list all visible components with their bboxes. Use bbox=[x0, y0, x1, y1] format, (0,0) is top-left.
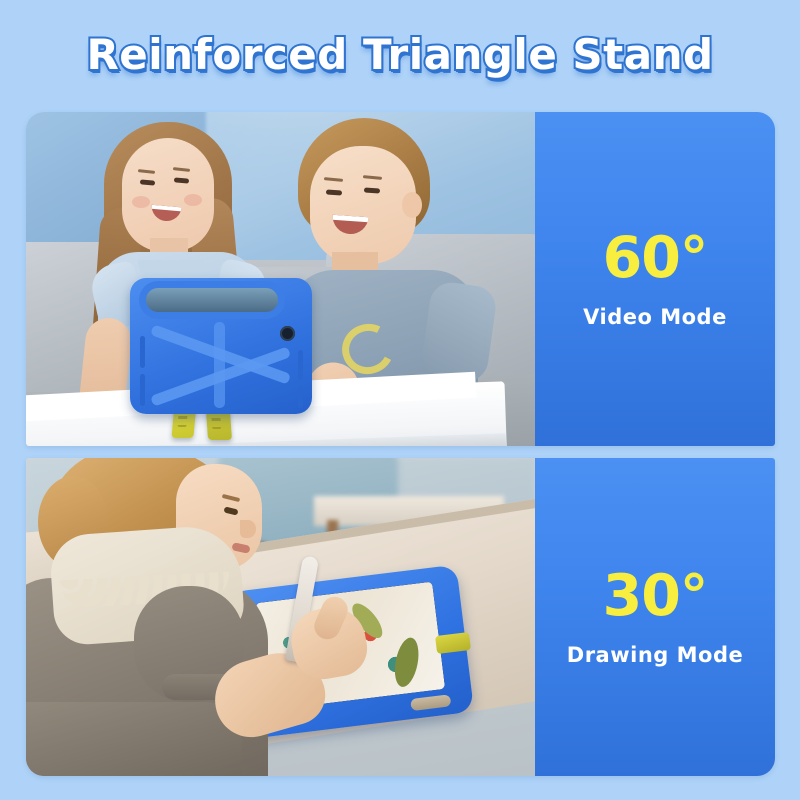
page-title: Reinforced Triangle Stand bbox=[86, 30, 713, 79]
angle-value-drawing: 30° bbox=[603, 568, 708, 625]
info-panel-drawing-mode: 30° Drawing Mode bbox=[535, 458, 775, 776]
boy-eye-left bbox=[326, 189, 342, 195]
case-carry-handle bbox=[146, 288, 278, 312]
photo-drawing-mode bbox=[26, 458, 535, 776]
feature-card-drawing-mode: 30° Drawing Mode bbox=[26, 458, 775, 776]
girl2-skirt bbox=[26, 702, 242, 776]
camera-cutout bbox=[280, 326, 295, 341]
tablet-case-upright bbox=[130, 278, 312, 414]
info-panel-video-mode: 60° Video Mode bbox=[535, 112, 775, 446]
girl-cheek-left bbox=[132, 196, 150, 208]
angle-value-video: 60° bbox=[603, 230, 708, 287]
product-feature-page: Reinforced Triangle Stand bbox=[0, 0, 800, 800]
boy-eye-right bbox=[364, 187, 380, 193]
case-grip-dots-right-2 bbox=[298, 386, 303, 408]
case-grip-dots-left-1 bbox=[140, 336, 145, 368]
girl-cheek-right bbox=[184, 194, 202, 206]
boy-face bbox=[310, 146, 416, 264]
photo-video-mode bbox=[26, 112, 535, 446]
girl-face bbox=[122, 138, 214, 252]
girl2-nose bbox=[240, 520, 256, 538]
case-grip-dots-right-1 bbox=[298, 350, 303, 380]
mode-label-video: Video Mode bbox=[583, 305, 727, 329]
case-center-rib bbox=[214, 322, 225, 408]
mode-label-drawing: Drawing Mode bbox=[567, 643, 743, 667]
case-grip-dots-left-2 bbox=[140, 374, 145, 406]
page-title-container: Reinforced Triangle Stand bbox=[0, 18, 800, 90]
feature-card-video-mode: 60° Video Mode bbox=[26, 112, 775, 446]
boy-ear bbox=[402, 192, 422, 218]
